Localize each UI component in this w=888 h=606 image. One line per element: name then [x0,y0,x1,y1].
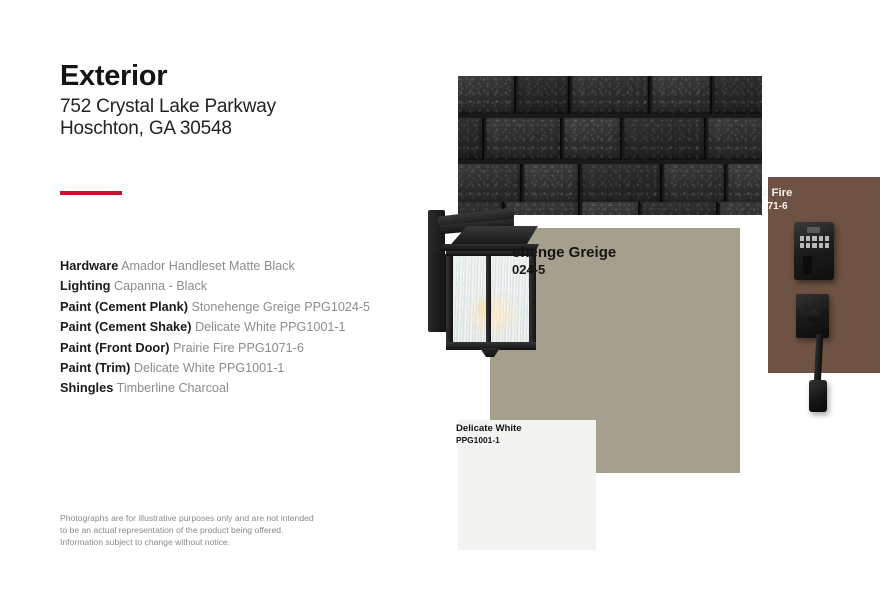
exterior-selection-sheet: Exterior 752 Crystal Lake Parkway Hoscht… [0,0,888,606]
property-address: 752 Crystal Lake Parkway Hoschton, GA 30… [60,96,276,141]
spec-label: Paint (Cement Shake) [60,319,192,334]
spec-value: Delicate White PPG1001-1 [195,320,346,334]
disclaimer-text: Photographs are for illustrative purpose… [60,512,316,549]
keypad-keyway [803,256,812,274]
swatch-code: PPG1001-1 [456,435,522,446]
swatch-name: Delicate White [456,423,522,435]
spec-label: Lighting [60,278,110,293]
spec-value: Capanna - Black [114,279,207,293]
keypad-display [807,227,820,233]
shingles-photo [458,76,762,215]
spec-row: Shingles Timberline Charcoal [60,378,440,398]
swatch-code: 071-6 [762,201,792,214]
spec-row: Lighting Capanna - Black [60,276,440,296]
keypad-deadbolt [794,222,834,280]
swatch-label-prairie-fire: e Fire 071-6 [762,186,792,213]
spec-value: Prairie Fire PPG1071-6 [173,341,304,355]
address-line-2: Hoschton, GA 30548 [60,118,276,140]
page-title: Exterior [60,60,167,93]
spec-label: Paint (Front Door) [60,340,169,355]
spec-label: Hardware [60,258,118,273]
lantern-frame-post [486,250,491,348]
spec-value: Stonehenge Greige PPG1024-5 [192,300,371,314]
spec-row: Paint (Front Door) Prairie Fire PPG1071-… [60,338,440,358]
swatch-name: e Fire [762,186,792,201]
spec-row: Paint (Trim) Delicate White PPG1001-1 [60,358,440,378]
handleset-grip-base [809,380,827,412]
spec-value: Amador Handleset Matte Black [121,259,295,273]
keypad-buttons [800,236,829,248]
spec-label: Paint (Cement Plank) [60,299,188,314]
spec-row: Paint (Cement Plank) Stonehenge Greige P… [60,297,440,317]
swatch-label-stonehenge-greige: ehenge Greige 024-5 [512,243,616,279]
swatch-label-delicate-white: Delicate White PPG1001-1 [456,423,522,446]
address-line-1: 752 Crystal Lake Parkway [60,96,276,118]
swatch-name: ehenge Greige [512,243,616,262]
accent-divider [60,191,122,195]
spec-value: Delicate White PPG1001-1 [134,361,285,375]
lantern-glow [466,293,518,336]
swatch-code: 024-5 [512,262,616,279]
specification-list: Hardware Amador Handleset Matte Black Li… [60,256,440,399]
spec-label: Shingles [60,380,113,395]
lantern-light-fixture [424,196,546,368]
spec-row: Paint (Cement Shake) Delicate White PPG1… [60,317,440,337]
lantern-finial [480,348,500,357]
door-handleset [786,222,852,412]
handleset-grip [814,334,824,386]
spec-row: Hardware Amador Handleset Matte Black [60,256,440,276]
spec-label: Paint (Trim) [60,360,130,375]
spec-value: Timberline Charcoal [117,381,229,395]
lantern-frame-post [446,250,453,348]
